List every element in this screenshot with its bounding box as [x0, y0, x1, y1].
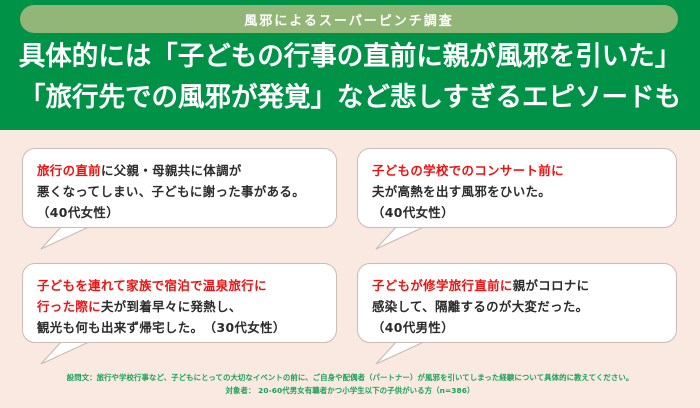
testimonial-1-emphasis: 旅行の直前 — [37, 163, 101, 178]
testimonial-2-respondent: （40代女性） — [372, 202, 668, 223]
bubble-tail-2-icon — [376, 226, 426, 249]
testimonial-3-line-2-rest: 夫が到着早々に発熱し、 — [101, 299, 242, 314]
bubble-tail-4-icon — [376, 341, 426, 364]
footer-question-text: 設問文：旅行や学校行事など、子どもにとっての大切なイベントの前に、ご自身や配偶者… — [0, 368, 700, 384]
survey-title-text: 風邪によるスーパーピンチ調査 — [244, 10, 453, 29]
testimonial-1-respondent: （40代女性） — [37, 202, 328, 223]
headline-line-2: 「旅行先での風邪が発覚」など悲しすぎるエピソードも — [0, 77, 700, 118]
bubble-tail-3-icon — [41, 341, 91, 364]
testimonial-3-emphasis: 子どもを連れて家族で宿泊で温泉旅行に — [37, 278, 267, 293]
testimonial-1-line-1-rest: に父親・母親共に体調が — [101, 163, 242, 178]
testimonial-4-emphasis: 子どもが修学旅行直前に — [372, 278, 513, 293]
testimonial-1-line-1: 旅行の直前に父親・母親共に体調が — [37, 160, 328, 181]
testimonial-text-1: 旅行の直前に父親・母親共に体調が 悪くなってしまい、子どもに謝った事がある。 （… — [37, 160, 328, 223]
testimonial-bubble-4: 子どもが修学旅行直前に親がコロナに 感染して、隔離するのが大変だった。 （40代… — [357, 263, 677, 343]
testimonial-3-emphasis-2: 行った際に — [37, 299, 101, 314]
testimonial-4-respondent: （40代男性） — [372, 317, 668, 338]
header-banner: 風邪によるスーパーピンチ調査 具体的には「子どもの行事の直前に親が風邪を引いた」… — [0, 0, 700, 130]
footer-notes: 設問文：旅行や学校行事など、子どもにとっての大切なイベントの前に、ご自身や配偶者… — [0, 368, 700, 408]
testimonial-3-line-1: 子どもを連れて家族で宿泊で温泉旅行に — [37, 275, 328, 296]
testimonial-2-line-2: 夫が高熱を出す風邪をひいた。 — [372, 181, 668, 202]
headline: 具体的には「子どもの行事の直前に親が風邪を引いた」 「旅行先での風邪が発覚」など… — [0, 36, 700, 118]
headline-line-1: 具体的には「子どもの行事の直前に親が風邪を引いた」 — [0, 36, 700, 77]
testimonial-3-line-2: 行った際に夫が到着早々に発熱し、 — [37, 296, 328, 317]
testimonial-bubble-1: 旅行の直前に父親・母親共に体調が 悪くなってしまい、子どもに謝った事がある。 （… — [22, 148, 337, 228]
testimonial-2-line-1: 子どもの学校でのコンサート前に — [372, 160, 668, 181]
testimonial-2-emphasis: 子どもの学校でのコンサート前に — [372, 163, 564, 178]
survey-title-badge: 風邪によるスーパーピンチ調査 — [20, 5, 678, 33]
testimonial-4-line-1-rest: 親がコロナに — [513, 278, 590, 293]
testimonial-bubble-2: 子どもの学校でのコンサート前に 夫が高熱を出す風邪をひいた。 （40代女性） — [357, 148, 677, 228]
testimonial-4-line-2: 感染して、隔離するのが大変だった。 — [372, 296, 668, 317]
testimonial-1-line-2: 悪くなってしまい、子どもに謝った事がある。 — [37, 181, 328, 202]
testimonial-bubble-3: 子どもを連れて家族で宿泊で温泉旅行に 行った際に夫が到着早々に発熱し、 観光も何… — [22, 263, 337, 343]
testimonial-text-4: 子どもが修学旅行直前に親がコロナに 感染して、隔離するのが大変だった。 （40代… — [372, 275, 668, 338]
testimonial-text-2: 子どもの学校でのコンサート前に 夫が高熱を出す風邪をひいた。 （40代女性） — [372, 160, 668, 223]
footer-target-text: 対象者： 20-60代男女有職者かつ小学生以下の子供がいる方（n=386） — [0, 384, 700, 397]
testimonial-3-line-3: 観光も何も出来ず帰宅した。 （30代女性） — [37, 317, 328, 338]
testimonial-text-3: 子どもを連れて家族で宿泊で温泉旅行に 行った際に夫が到着早々に発熱し、 観光も何… — [37, 275, 328, 338]
bubble-tail-1-icon — [41, 226, 91, 249]
testimonial-bubbles: 旅行の直前に父親・母親共に体調が 悪くなってしまい、子どもに謝った事がある。 （… — [0, 130, 700, 368]
testimonial-4-line-1: 子どもが修学旅行直前に親がコロナに — [372, 275, 668, 296]
